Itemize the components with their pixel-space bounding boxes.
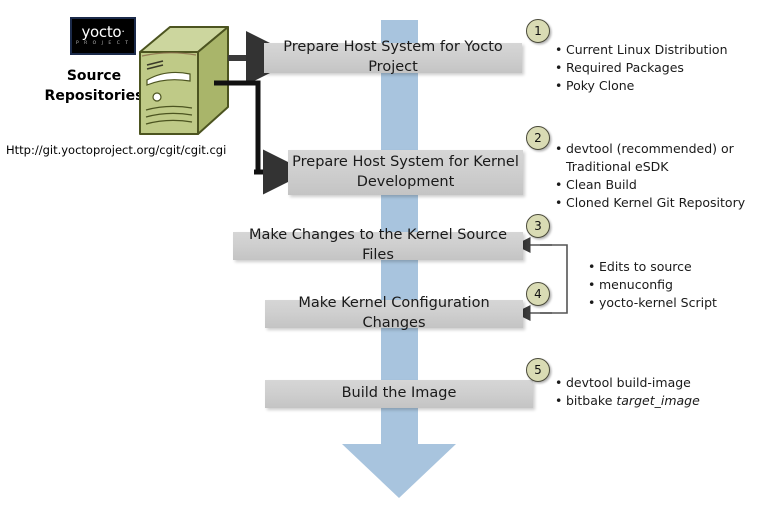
process-box-3[interactable]: Make Changes to the Kernel Source Files: [233, 232, 523, 260]
list-item: Clean Build: [566, 176, 764, 194]
list-item: Poky Clone: [566, 77, 764, 95]
yocto-project-logo: yocto· P R O J E C T: [70, 17, 136, 55]
yocto-logo-dot: ·: [121, 25, 124, 38]
list-item: Required Packages: [566, 59, 764, 77]
list-item: Cloned Kernel Git Repository: [566, 194, 764, 212]
list-item: devtool (recommended) or Traditional eSD…: [566, 140, 764, 176]
process-box-5-label: Build the Image: [342, 384, 457, 404]
source-repositories-url: Http://git.yoctoproject.org/cgit/cgit.cg…: [6, 143, 226, 157]
step-1-bullets: Current Linux Distribution Required Pack…: [552, 41, 764, 95]
step-badge-4-number: 4: [534, 287, 542, 301]
list-item-text: bitbake: [566, 393, 616, 408]
process-box-4[interactable]: Make Kernel Configuration Changes: [265, 300, 523, 328]
step-badge-1-number: 1: [534, 24, 542, 38]
step-5-bullets: devtool build-image bitbake target_image: [552, 374, 752, 410]
list-item: devtool build-image: [566, 374, 752, 392]
flow-arrow-head: [342, 444, 456, 498]
list-item: bitbake target_image: [566, 392, 752, 410]
step-badge-5: 5: [526, 358, 550, 382]
list-item: yocto-kernel Script: [599, 294, 765, 312]
list-item-emphasis: target_image: [616, 393, 699, 408]
list-item-text: devtool build-image: [566, 375, 691, 390]
list-item: Current Linux Distribution: [566, 41, 764, 59]
step-badge-3: 3: [526, 214, 550, 238]
process-box-1[interactable]: Prepare Host System for Yocto Project: [264, 43, 522, 73]
list-item: menuconfig: [599, 276, 765, 294]
step-badge-3-number: 3: [534, 219, 542, 233]
step-badge-1: 1: [526, 19, 550, 43]
process-box-3-label: Make Changes to the Kernel Source Files: [233, 226, 523, 265]
step-badge-5-number: 5: [534, 363, 542, 377]
step-2-bullets: devtool (recommended) or Traditional eSD…: [552, 140, 764, 213]
step-badge-2: 2: [526, 126, 550, 150]
process-box-2[interactable]: Prepare Host System for Kernel Developme…: [288, 150, 523, 195]
process-box-1-label: Prepare Host System for Yocto Project: [264, 38, 522, 77]
server-icon: [136, 24, 232, 138]
step-3-4-bullets: Edits to source menuconfig yocto-kernel …: [585, 258, 765, 312]
yocto-logo-wordmark: yocto·: [81, 25, 124, 40]
list-item: Edits to source: [599, 258, 765, 276]
process-box-4-label: Make Kernel Configuration Changes: [265, 294, 523, 333]
yocto-logo-word-text: yocto: [81, 23, 121, 41]
step-badge-2-number: 2: [534, 131, 542, 145]
process-box-2-label: Prepare Host System for Kernel Developme…: [292, 153, 519, 192]
step-badge-4: 4: [526, 282, 550, 306]
process-box-5[interactable]: Build the Image: [265, 380, 533, 408]
diagram-canvas: yocto· P R O J E C T Source Repositories…: [0, 0, 769, 517]
yocto-logo-subtitle: P R O J E C T: [76, 42, 130, 47]
